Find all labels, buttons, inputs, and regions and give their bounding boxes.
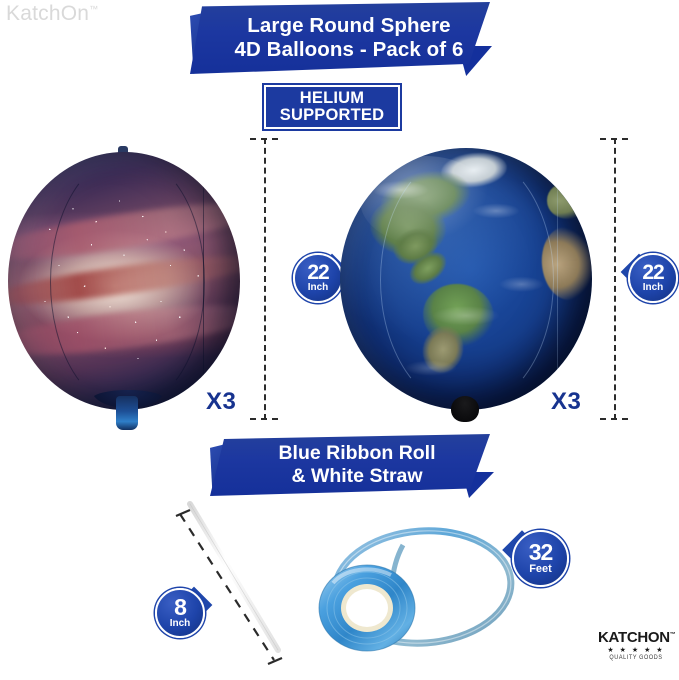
galaxy-seam-right xyxy=(203,157,204,405)
brand-stars-icon: ★ ★ ★ ★ ★ xyxy=(598,647,674,654)
brand-tagline: QUALITY GOODS xyxy=(598,655,674,662)
size-badge-unit: Feet xyxy=(529,564,552,575)
size-badge-disc: 22 Inch xyxy=(293,253,343,303)
headline-banner-body: Large Round Sphere 4D Balloons - Pack of… xyxy=(190,2,490,74)
helium-badge-line-1: HELIUM xyxy=(300,90,364,107)
katchon-watermark: KatchOn™ xyxy=(6,2,98,26)
size-badge-ribbon: 32 Feet xyxy=(508,530,570,592)
quantity-label-earth: X3 xyxy=(551,388,581,416)
brand-tm: ™ xyxy=(670,632,676,638)
accessories-banner: Blue Ribbon Roll & White Straw xyxy=(210,434,490,496)
earth-balloon-valve xyxy=(451,396,479,422)
earth-seam-right xyxy=(557,153,558,405)
katchon-brand-logo: KATCHON™ ★ ★ ★ ★ ★ QUALITY GOODS xyxy=(598,630,674,674)
size-badge-galaxy: 22 Inch xyxy=(293,253,347,307)
brand-name: KATCHON™ xyxy=(598,630,674,645)
brand-name-text: KATCHON xyxy=(598,629,670,646)
size-badge-unit: Inch xyxy=(170,619,191,629)
quantity-label-galaxy: X3 xyxy=(206,388,236,416)
ribbon-spool-hole xyxy=(346,589,388,627)
size-badge-straw: 8 Inch xyxy=(155,588,209,642)
bracket-cap-bottom xyxy=(250,418,278,420)
earth-balloon-orb xyxy=(340,148,592,410)
earth-seam-arc xyxy=(380,151,553,410)
galaxy-balloon-orb xyxy=(8,152,240,410)
headline-line-2: 4D Balloons - Pack of 6 xyxy=(234,38,463,62)
galaxy-sphere-balloon xyxy=(8,152,240,410)
size-badge-disc: 32 Feet xyxy=(512,530,569,587)
size-badge-disc: 22 Inch xyxy=(628,253,678,303)
product-infographic: KatchOn™ Large Round Sphere 4D Balloons … xyxy=(0,0,679,680)
ribbon-roll-svg xyxy=(305,525,520,665)
accessories-banner-body: Blue Ribbon Roll & White Straw xyxy=(210,434,490,496)
helium-badge-inner: HELIUM SUPPORTED xyxy=(264,85,400,129)
headline-banner: Large Round Sphere 4D Balloons - Pack of… xyxy=(190,2,490,74)
size-badge-number: 32 xyxy=(529,542,553,563)
size-badge-unit: Inch xyxy=(643,283,664,293)
earth-globe-sphere-balloon xyxy=(340,148,592,410)
bracket-vertical-line xyxy=(614,138,616,420)
size-badge-earth: 22 Inch xyxy=(626,253,679,307)
size-badge-disc: 8 Inch xyxy=(155,588,205,638)
galaxy-measurement-bracket xyxy=(250,138,278,420)
size-badge-unit: Inch xyxy=(308,283,329,293)
bracket-cap-bottom xyxy=(600,418,628,420)
earth-measurement-bracket xyxy=(600,138,628,420)
accessories-line-2: & White Straw xyxy=(291,465,422,488)
watermark-text: KatchOn xyxy=(6,2,89,25)
headline-line-1: Large Round Sphere xyxy=(247,14,450,38)
size-badge-number: 8 xyxy=(174,597,186,618)
galaxy-balloon-valve xyxy=(116,396,138,430)
size-badge-number: 22 xyxy=(642,263,663,282)
accessories-line-1: Blue Ribbon Roll xyxy=(278,442,435,465)
watermark-tm: ™ xyxy=(89,4,98,14)
bracket-vertical-line xyxy=(264,138,266,420)
blue-ribbon-roll xyxy=(305,525,520,665)
helium-badge-line-2: SUPPORTED xyxy=(280,107,384,124)
helium-supported-badge: HELIUM SUPPORTED xyxy=(262,83,402,131)
size-badge-number: 22 xyxy=(307,263,328,282)
galaxy-seam-arc xyxy=(50,155,205,410)
